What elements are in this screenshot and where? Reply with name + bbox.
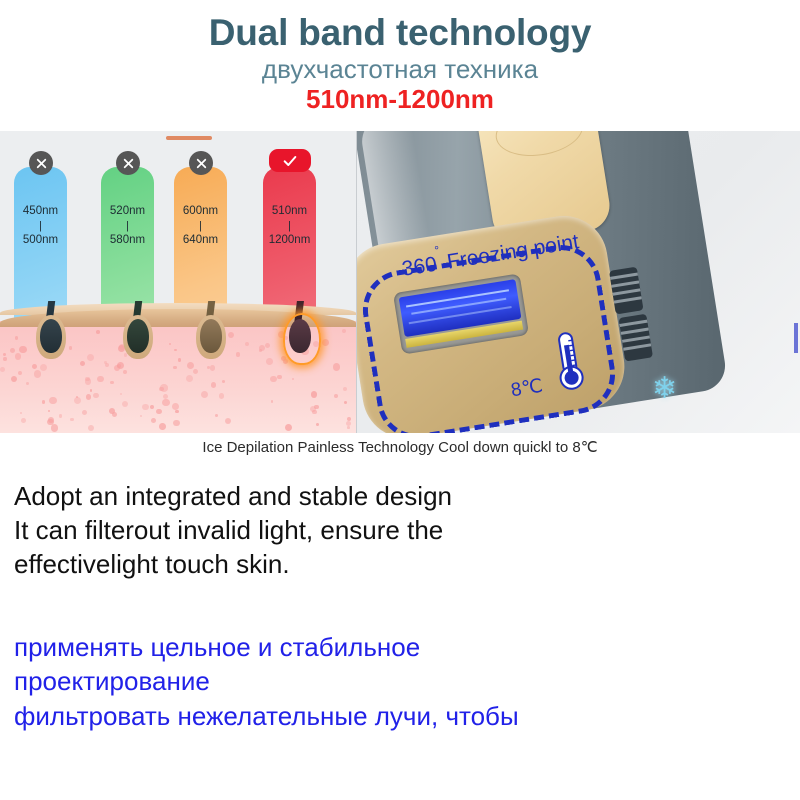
wavelength-dash-2: | bbox=[101, 220, 154, 232]
skin-cross-section bbox=[0, 301, 356, 433]
temperature-label: 8℃ bbox=[509, 375, 544, 403]
wavelength-from-1: 450nm bbox=[23, 205, 58, 217]
wavelength-to-1: 500nm bbox=[23, 234, 58, 246]
english-line-2: It can filterout invalid light, ensure t… bbox=[14, 514, 714, 548]
wavelength-dash-1: | bbox=[14, 220, 67, 232]
wavelength-from-2: 520nm bbox=[110, 205, 145, 217]
english-line-3: effectivelight touch skin. bbox=[14, 548, 714, 582]
orange-divider-bar bbox=[166, 136, 212, 140]
header: Dual band technology двухчастотная техни… bbox=[0, 0, 800, 115]
english-description: Adopt an integrated and stable design It… bbox=[14, 480, 714, 581]
russian-line-2: проектирование bbox=[14, 664, 774, 698]
wavelength-label-4: 510nm | 1200nm bbox=[263, 203, 316, 248]
snowflake-icon: ❄ bbox=[652, 371, 677, 406]
x-icon bbox=[29, 151, 53, 175]
english-line-1: Adopt an integrated and stable design bbox=[14, 480, 714, 514]
russian-line-3: фильтровать нежелательные лучи, чтобы bbox=[14, 699, 774, 733]
page-subtitle-ru: двухчастотная техника bbox=[0, 54, 800, 85]
device-caption: Ice Depilation Painless Technology Cool … bbox=[0, 438, 800, 456]
page-title: Dual band technology bbox=[0, 14, 800, 52]
wavelength-comparison-panel: 450nm | 500nm 520nm | 580nm 600nm | 640n… bbox=[0, 131, 356, 433]
wavelength-from-3: 600nm bbox=[183, 205, 218, 217]
x-icon bbox=[189, 151, 213, 175]
russian-line-1: применять цельное и стабильное bbox=[14, 630, 774, 664]
x-icon bbox=[116, 151, 140, 175]
freezing-point-number: 360 bbox=[400, 253, 438, 281]
wavelength-label-1: 450nm | 500nm bbox=[14, 203, 67, 248]
wavelength-to-2: 580nm bbox=[110, 234, 145, 246]
russian-description: применять цельное и стабильное проектиро… bbox=[14, 630, 774, 733]
device-photo-panel: 360° Freezing point 8℃ bbox=[357, 131, 800, 433]
edge-marker bbox=[794, 323, 798, 353]
wavelength-dash-3: | bbox=[174, 220, 227, 232]
wavelength-label-3: 600nm | 640nm bbox=[174, 203, 227, 248]
wavelength-label-2: 520nm | 580nm bbox=[101, 203, 154, 248]
check-icon bbox=[269, 149, 311, 172]
wavelength-from-4: 510nm bbox=[272, 205, 307, 217]
wavelength-dash-4: | bbox=[263, 220, 316, 232]
wavelength-range-headline: 510nm-1200nm bbox=[0, 85, 800, 115]
wavelength-to-4: 1200nm bbox=[269, 234, 311, 246]
wavelength-to-3: 640nm bbox=[183, 234, 218, 246]
panels-row: 450nm | 500nm 520nm | 580nm 600nm | 640n… bbox=[0, 131, 800, 433]
device-top-button-ring bbox=[492, 131, 586, 162]
